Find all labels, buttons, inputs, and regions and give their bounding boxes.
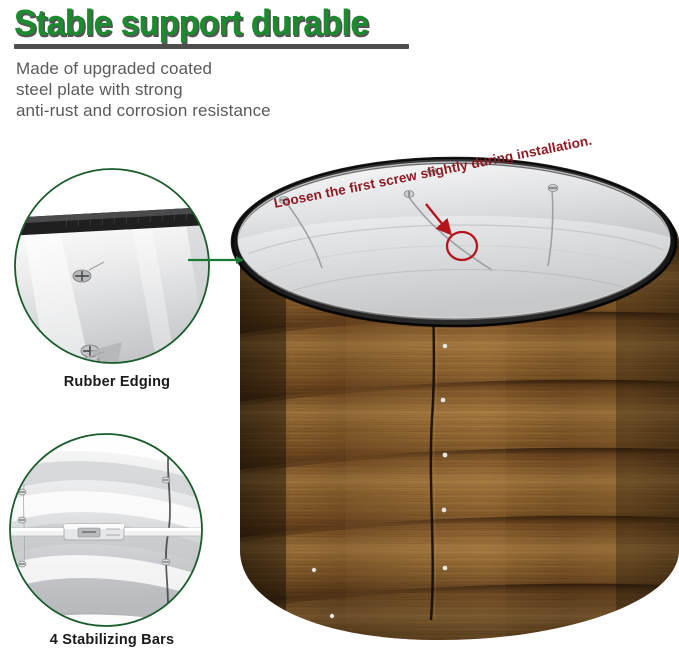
callout-rubber-edging: Rubber Edging	[6, 166, 228, 402]
headline-wrapper: Stable support durable	[14, 4, 395, 42]
product-illustration	[196, 150, 679, 660]
header-block: Stable support durable Made of upgraded …	[0, 0, 679, 132]
subtitle-text: Made of upgraded coated steel plate with…	[16, 58, 271, 121]
title-underline-rule	[14, 44, 409, 49]
callout-stabilizing-bars: 4 Stabilizing Bars	[2, 432, 222, 660]
callout-connector-line	[186, 256, 246, 264]
callout-label-stabilizing-bars: 4 Stabilizing Bars	[2, 632, 222, 648]
page-title: Stable support durable	[14, 4, 368, 42]
callout-label-rubber-edging: Rubber Edging	[6, 374, 228, 390]
detail-screw-lower	[76, 342, 122, 402]
